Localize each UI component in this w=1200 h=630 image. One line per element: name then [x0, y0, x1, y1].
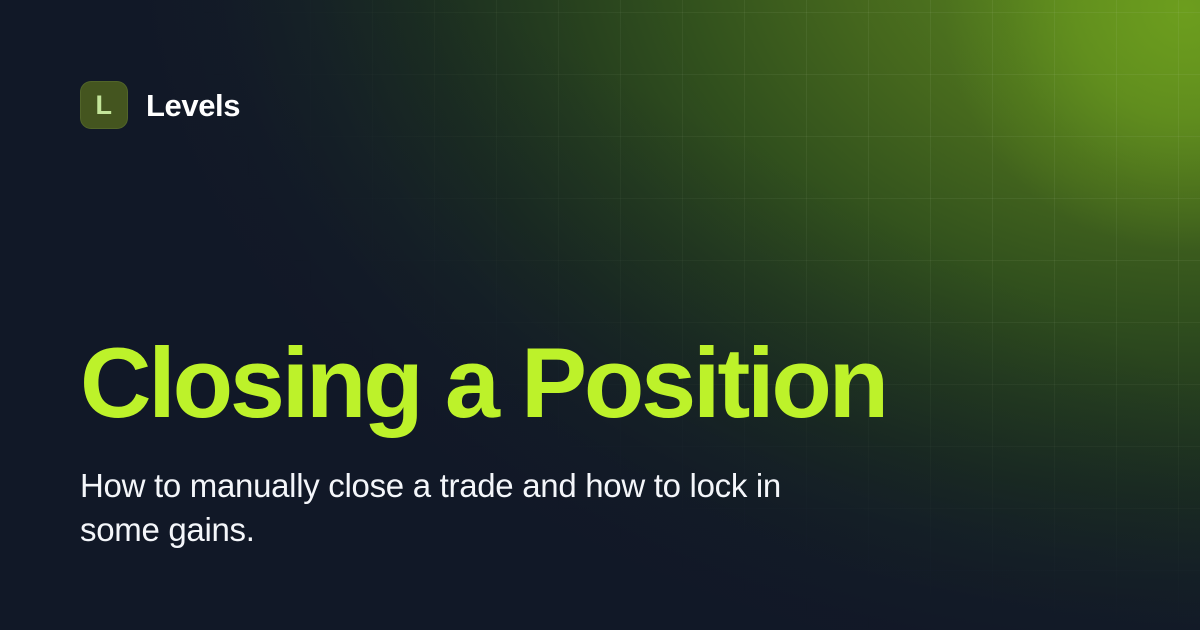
hero-text-block: Closing a Position How to manually close…	[80, 333, 1080, 552]
card-content: L Levels Closing a Position How to manua…	[0, 0, 1200, 630]
logo-letter: L	[96, 92, 113, 119]
page-title: Closing a Position	[80, 333, 1080, 432]
brand-lockup: L Levels	[80, 81, 240, 129]
og-card: L Levels Closing a Position How to manua…	[0, 0, 1200, 630]
page-subtitle: How to manually close a trade and how to…	[80, 432, 840, 552]
levels-logo-icon: L	[80, 81, 128, 129]
brand-name: Levels	[146, 90, 240, 121]
